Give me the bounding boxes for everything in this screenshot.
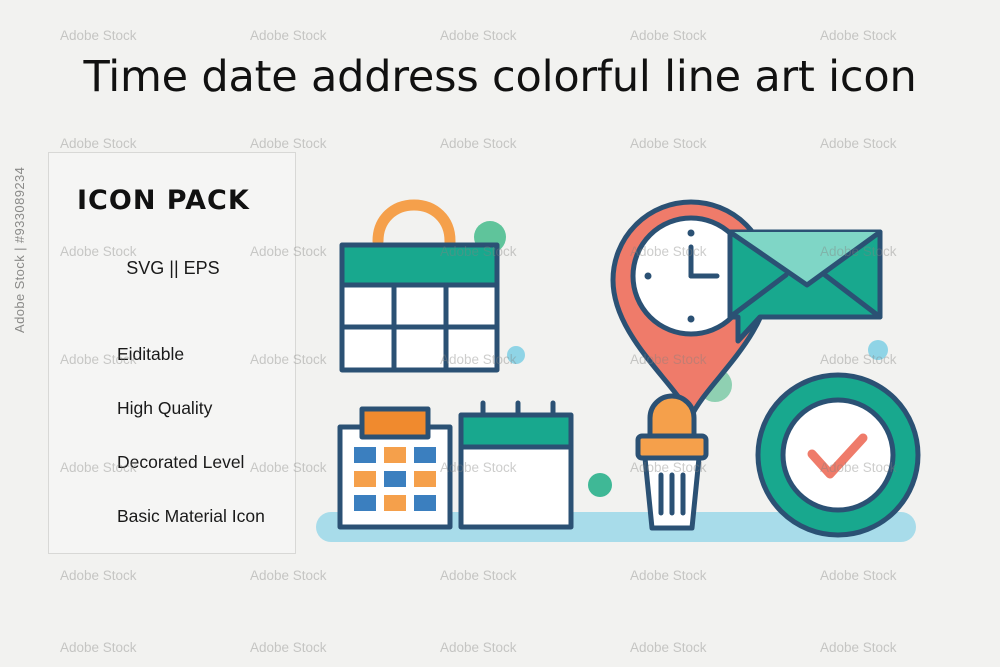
trash-bin-icon (638, 396, 706, 528)
envelope-message-icon (730, 232, 880, 341)
panel-feature-list: Eiditable High Quality Decorated Level B… (77, 344, 327, 560)
watermark-text: Adobe Stock (250, 136, 327, 151)
watermark-text: Adobe Stock (60, 568, 137, 583)
watermark-text: Adobe Stock (440, 640, 517, 655)
list-item: Basic Material Icon (117, 506, 327, 527)
poster-canvas: Time date address colorful line art icon… (0, 0, 1000, 667)
icon-pack-panel: ICON PACK SVG || EPS Eiditable High Qual… (48, 152, 296, 554)
watermark-text: Adobe Stock (820, 136, 897, 151)
watermark-text: Adobe Stock (440, 28, 517, 43)
watermark-text: Adobe Stock (630, 28, 707, 43)
clipboard-list-icon (340, 409, 450, 527)
calendar-blank-icon (461, 403, 571, 527)
list-item: Eiditable (117, 344, 327, 365)
icon-artwork (300, 175, 950, 575)
panel-heading: ICON PACK (77, 185, 250, 216)
watermark-text: Adobe Stock (630, 136, 707, 151)
watermark-text: Adobe Stock (440, 136, 517, 151)
watermark-text: Adobe Stock (250, 28, 327, 43)
watermark-asset-id: Adobe Stock | #933089234 (12, 167, 27, 333)
list-item: High Quality (117, 398, 327, 419)
calendar-handle-icon (342, 205, 497, 370)
page-title: Time date address colorful line art icon (0, 52, 1000, 102)
watermark-text: Adobe Stock (60, 640, 137, 655)
watermark-text: Adobe Stock (820, 28, 897, 43)
panel-formats: SVG || EPS (49, 258, 297, 279)
check-circle-icon (758, 375, 918, 535)
watermark-text: Adobe Stock (630, 640, 707, 655)
watermark-text: Adobe Stock (250, 640, 327, 655)
watermark-text: Adobe Stock (820, 640, 897, 655)
watermark-text: Adobe Stock (60, 136, 137, 151)
watermark-text: Adobe Stock (60, 28, 137, 43)
list-item: Decorated Level (117, 452, 327, 473)
